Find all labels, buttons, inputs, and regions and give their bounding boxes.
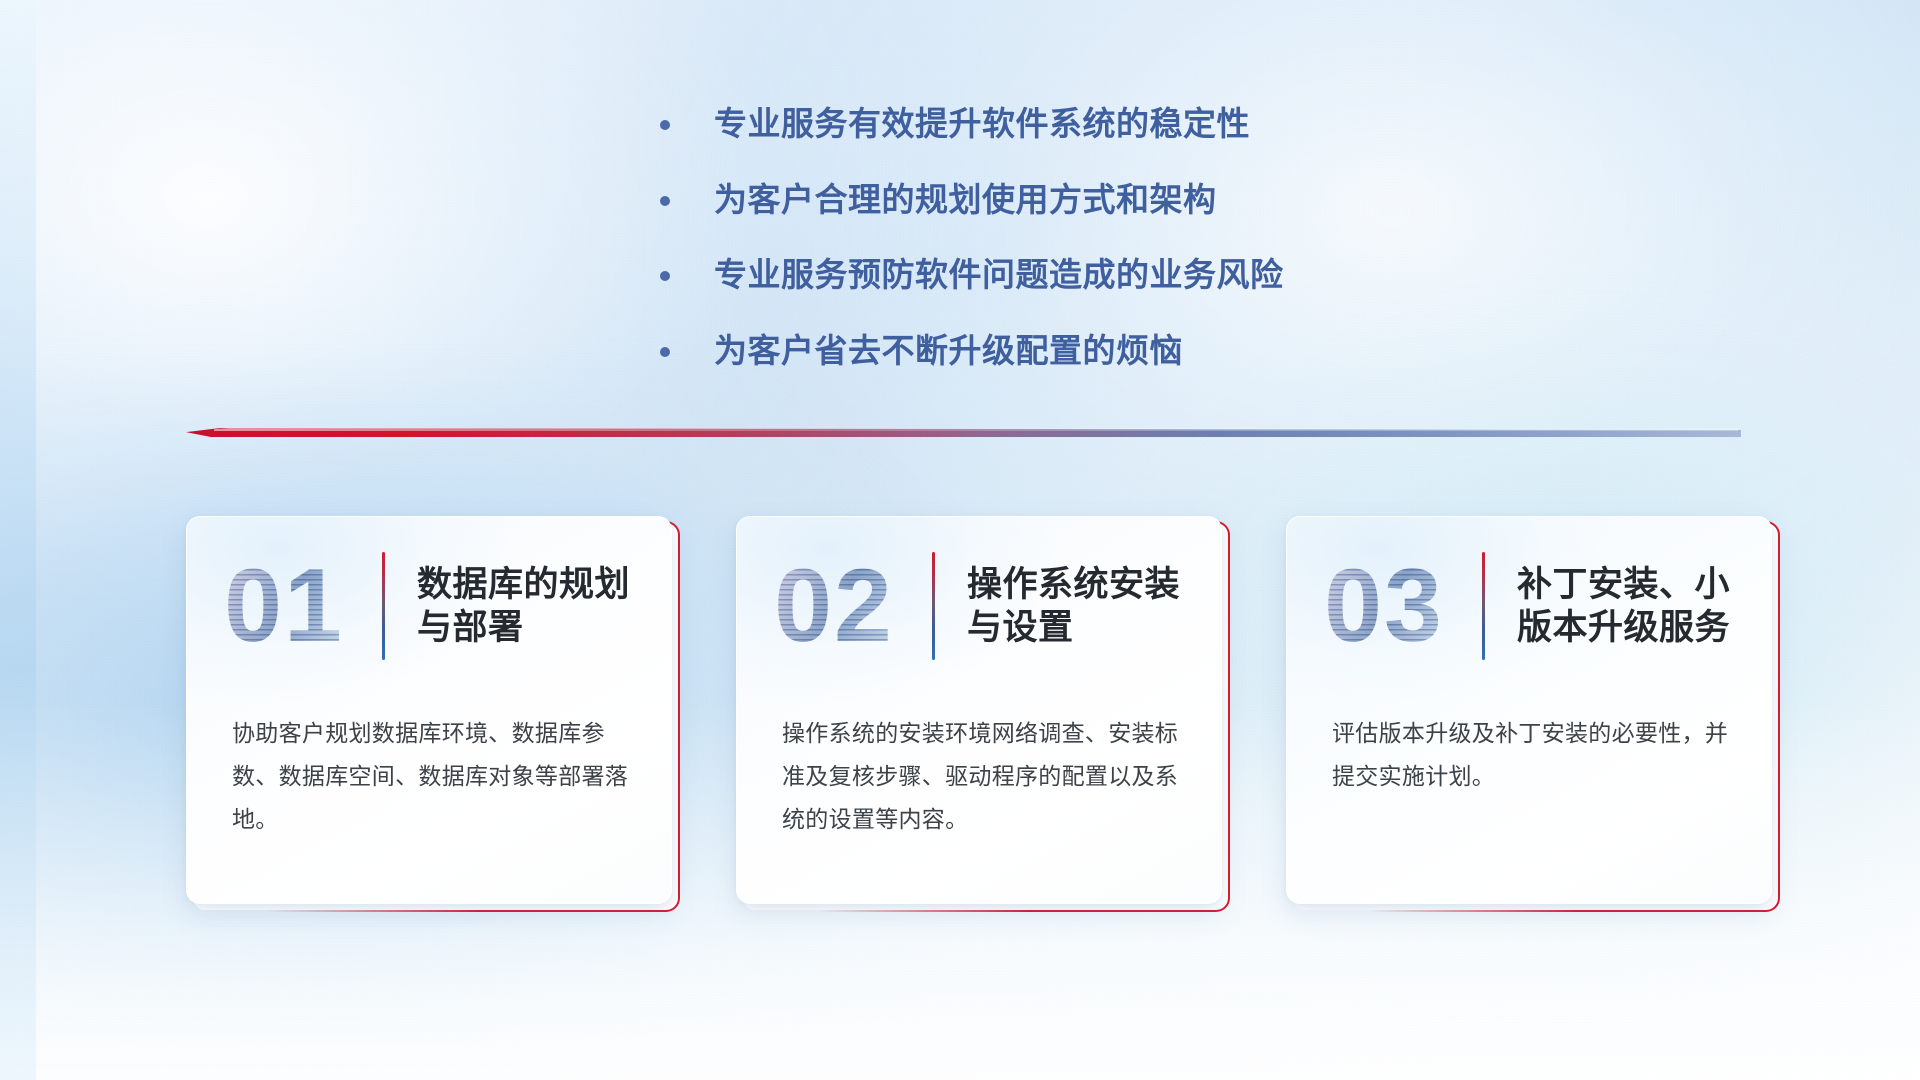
bullet-label: 专业服务有效提升软件系统的稳定性	[714, 104, 1250, 144]
card-index-number: 02	[736, 554, 932, 658]
bullet-dot-icon	[660, 271, 670, 281]
section-divider	[186, 424, 1741, 442]
card-divider-rule	[382, 552, 385, 660]
card-surface: 02 操作系统安装与设置 操作系统的安装环境网络调查、安装标准及复核步骤、驱动程…	[736, 516, 1222, 904]
benefits-list: 专业服务有效提升软件系统的稳定性 为客户合理的规划使用方式和架构 专业服务预防软…	[660, 104, 1480, 406]
bullet-dot-icon	[660, 196, 670, 206]
service-cards: 01 数据库的规划与部署 协助客户规划数据库环境、数据库参数、数据库空间、数据库…	[0, 516, 1920, 912]
card-title: 数据库的规划与部署	[417, 563, 672, 650]
card-divider-rule	[932, 552, 935, 660]
bullet-label: 为客户合理的规划使用方式和架构	[714, 180, 1217, 220]
list-item: 为客户省去不断升级配置的烦恼	[660, 331, 1480, 371]
card-description: 操作系统的安装环境网络调查、安装标准及复核步骤、驱动程序的配置以及系统的设置等内…	[782, 712, 1182, 840]
bullet-dot-icon	[660, 120, 670, 130]
card-title: 补丁安装、小版本升级服务	[1517, 563, 1772, 650]
card-header: 03 补丁安装、小版本升级服务	[1286, 542, 1772, 670]
card-description: 协助客户规划数据库环境、数据库参数、数据库空间、数据库对象等部署落地。	[232, 712, 632, 840]
bullet-label: 专业服务预防软件问题造成的业务风险	[714, 255, 1284, 295]
card-divider-rule	[1482, 552, 1485, 660]
service-card[interactable]: 02 操作系统安装与设置 操作系统的安装环境网络调查、安装标准及复核步骤、驱动程…	[736, 516, 1230, 912]
list-item: 专业服务有效提升软件系统的稳定性	[660, 104, 1480, 144]
card-surface: 01 数据库的规划与部署 协助客户规划数据库环境、数据库参数、数据库空间、数据库…	[186, 516, 672, 904]
bullet-label: 为客户省去不断升级配置的烦恼	[714, 331, 1183, 371]
card-index-number: 03	[1286, 554, 1482, 658]
card-header: 01 数据库的规划与部署	[186, 542, 672, 670]
card-index-number: 01	[186, 554, 382, 658]
list-item: 专业服务预防软件问题造成的业务风险	[660, 255, 1480, 295]
service-card[interactable]: 01 数据库的规划与部署 协助客户规划数据库环境、数据库参数、数据库空间、数据库…	[186, 516, 680, 912]
card-surface: 03 补丁安装、小版本升级服务 评估版本升级及补丁安装的必要性，并提交实施计划。	[1286, 516, 1772, 904]
card-description: 评估版本升级及补丁安装的必要性，并提交实施计划。	[1332, 712, 1732, 798]
card-title: 操作系统安装与设置	[967, 563, 1222, 650]
service-card[interactable]: 03 补丁安装、小版本升级服务 评估版本升级及补丁安装的必要性，并提交实施计划。	[1286, 516, 1780, 912]
bullet-dot-icon	[660, 347, 670, 357]
card-header: 02 操作系统安装与设置	[736, 542, 1222, 670]
section-divider-highlight	[214, 428, 1738, 431]
list-item: 为客户合理的规划使用方式和架构	[660, 180, 1480, 220]
